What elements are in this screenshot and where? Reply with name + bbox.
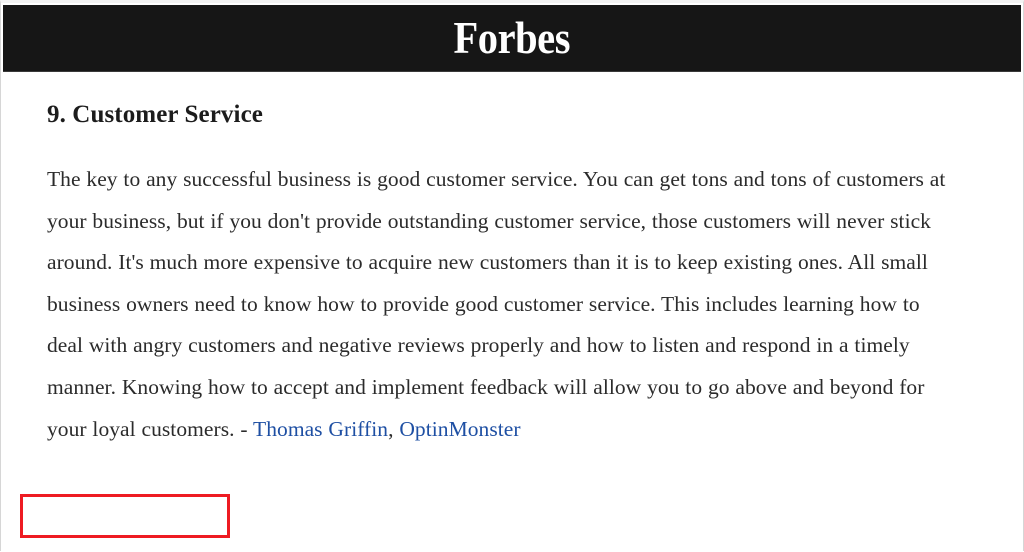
link-optinmonster[interactable]: OptinMonster: [399, 417, 520, 441]
forbes-article-screenshot: Forbes 9. Customer Service The key to an…: [0, 0, 1024, 551]
article-content: 9. Customer Service The key to any succe…: [1, 73, 1023, 552]
article-paragraph: The key to any successful business is go…: [47, 159, 957, 450]
link-thomas-griffin[interactable]: Thomas Griffin: [253, 417, 388, 441]
forbes-logo[interactable]: Forbes: [454, 16, 571, 61]
section-heading: 9. Customer Service: [47, 100, 263, 130]
forbes-masthead: Forbes: [3, 5, 1021, 72]
attribution-separator: ,: [388, 417, 399, 441]
paragraph-body-text: The key to any successful business is go…: [47, 167, 945, 441]
